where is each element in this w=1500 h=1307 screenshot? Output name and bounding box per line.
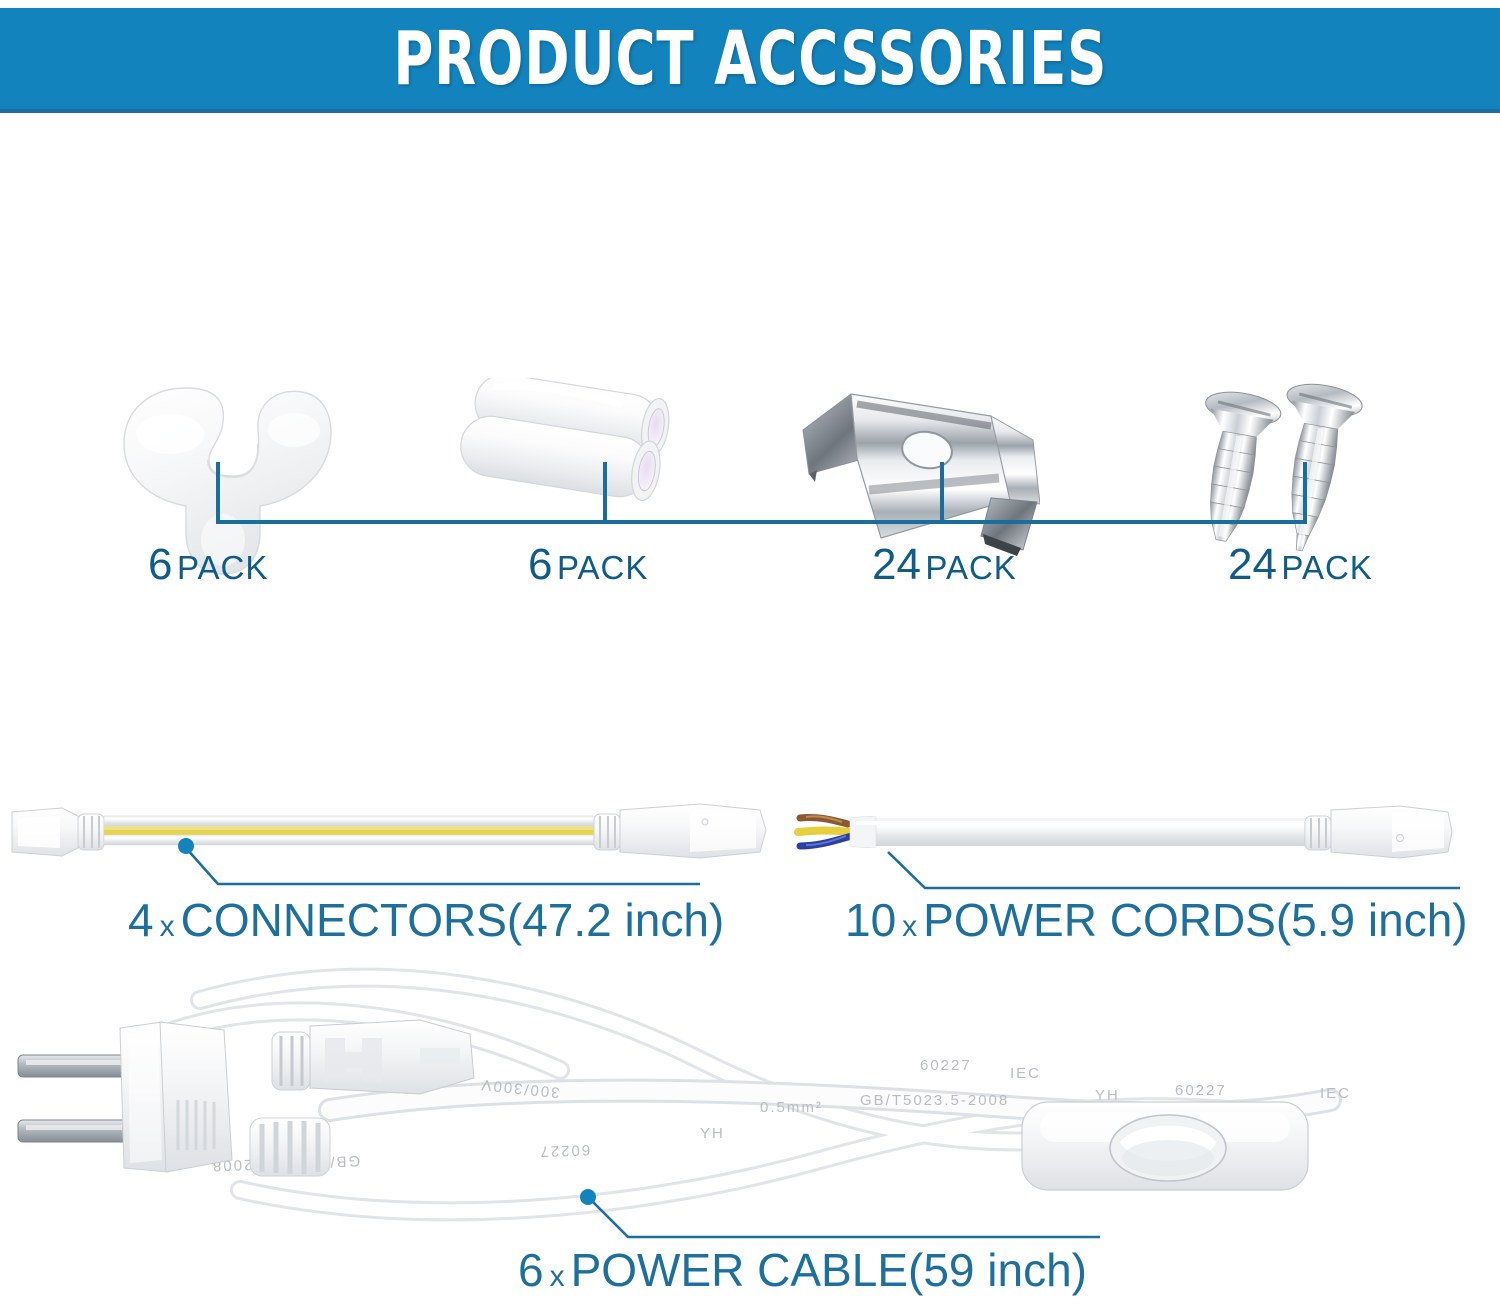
pack-quantity-1: 6 — [148, 540, 172, 589]
page-title-text: PRODUCT ACCSSORIES — [393, 16, 1107, 102]
cable-marking-2: 60227 — [538, 1141, 590, 1160]
strain-relief-icon — [250, 1118, 330, 1176]
page-title: PRODUCT ACCSSORIES — [0, 16, 1500, 102]
connectors-text: CONNECTORS(47.2 inch) — [181, 894, 725, 946]
pack-label-4: 24 PACK — [1228, 540, 1373, 590]
connectors-times: x — [154, 910, 181, 943]
cable-row — [0, 790, 1500, 900]
caption-connectors: 4xCONNECTORS(47.2 inch) — [128, 893, 724, 947]
pack-unit-1: PACK — [177, 549, 268, 586]
cable-times: x — [544, 1260, 571, 1293]
pack-quantity-3: 24 — [872, 540, 921, 589]
cable-marking-10: YH — [700, 1125, 725, 1142]
pack-label-2: 6 PACK — [528, 540, 648, 590]
pack-quantity-2: 6 — [528, 540, 552, 589]
bracket-divider — [0, 455, 1500, 535]
pack-label-3: 24 PACK — [872, 540, 1017, 590]
pack-unit-4: PACK — [1281, 549, 1372, 586]
cable-marking-5: 0.5mm² — [760, 1099, 823, 1116]
pack-unit-2: PACK — [557, 549, 648, 586]
cable-marking-6: GB/T5023.5-2008 — [860, 1092, 1009, 1109]
power-cable-graphic: GB/T5023.5-2008 60227 300/300V 2×0.5mm² … — [0, 960, 1500, 1250]
cords-text: POWER CORDS(5.9 inch) — [923, 894, 1467, 946]
inline-switch-icon — [1022, 1102, 1308, 1190]
infographic-canvas: PRODUCT ACCSSORIES — [0, 0, 1500, 1307]
cable-marking-12: 60227 — [920, 1057, 972, 1074]
cable-text: POWER CABLE(59 inch) — [571, 1244, 1087, 1296]
top-product-row — [0, 120, 1500, 470]
cable-qty: 6 — [518, 1244, 544, 1296]
cords-times: x — [896, 910, 923, 943]
pack-quantity-4: 24 — [1228, 540, 1277, 589]
connector-cable-graphic — [12, 804, 766, 858]
pack-label-1: 6 PACK — [148, 540, 268, 590]
us-plug-icon — [18, 1022, 232, 1172]
inline-socket-icon — [272, 1020, 474, 1094]
connectors-qty: 4 — [128, 894, 154, 946]
caption-power-cords: 10xPOWER CORDS(5.9 inch) — [845, 893, 1468, 947]
cable-marking-8: 60227 — [1175, 1082, 1227, 1099]
caption-power-cable: 6xPOWER CABLE(59 inch) — [518, 1243, 1087, 1297]
power-cord-graphic — [798, 806, 1452, 858]
cable-marking-9: IEC — [1320, 1085, 1351, 1102]
pack-unit-3: PACK — [925, 549, 1016, 586]
cords-qty: 10 — [845, 894, 896, 946]
cable-marking-11: IEC — [1010, 1065, 1041, 1082]
header-banner: PRODUCT ACCSSORIES — [0, 8, 1500, 113]
